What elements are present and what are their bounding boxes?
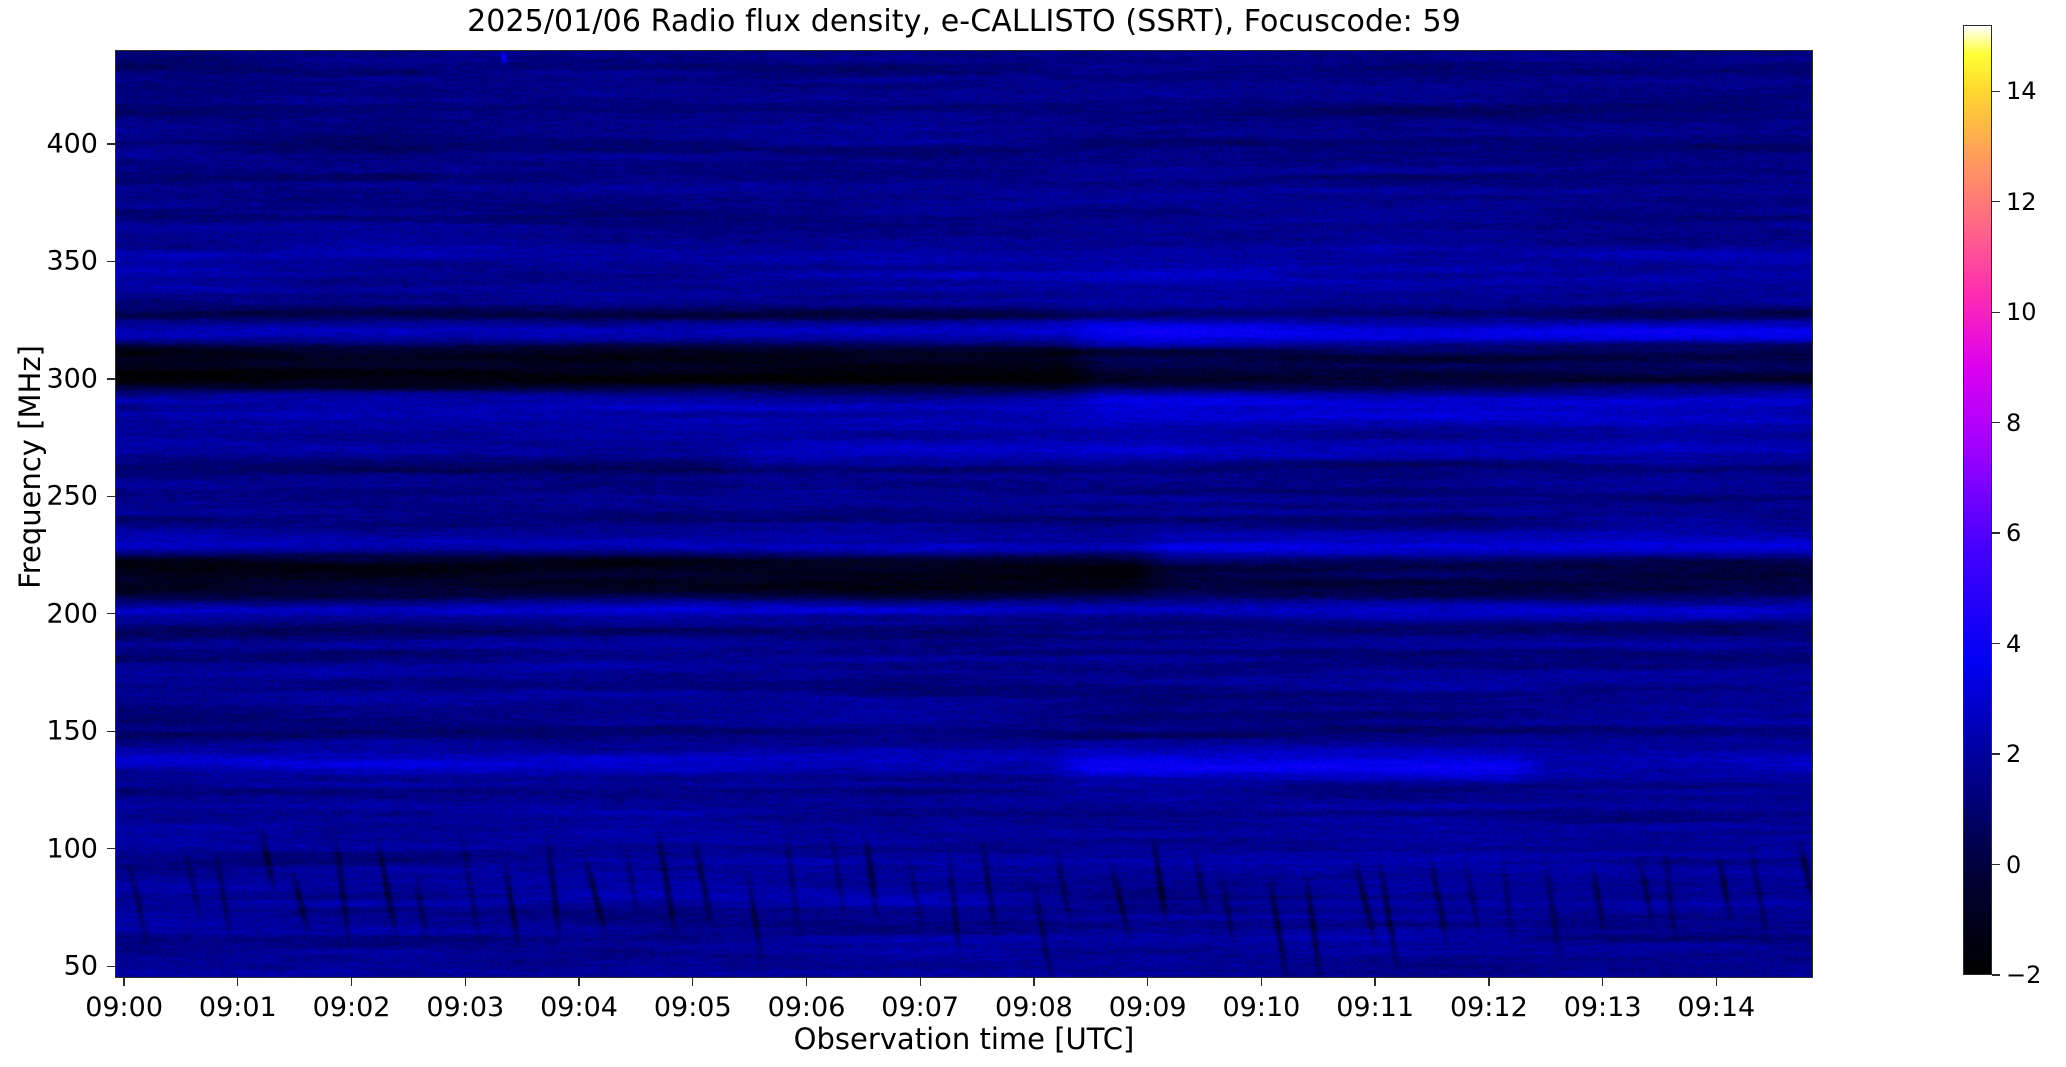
y-tick-label: 150 bbox=[20, 716, 98, 747]
colorbar[interactable] bbox=[1963, 25, 1992, 975]
x-tick-mark bbox=[465, 978, 466, 986]
x-tick-mark bbox=[1716, 978, 1717, 986]
x-tick-label: 09:02 bbox=[313, 992, 391, 1023]
colorbar-gradient bbox=[1964, 26, 1991, 974]
colorbar-tick-label: 2 bbox=[2006, 740, 2021, 768]
colorbar-tick-label: 10 bbox=[2006, 298, 2037, 326]
x-tick-mark bbox=[1602, 978, 1603, 986]
figure-root: 2025/01/06 Radio flux density, e-CALLIST… bbox=[0, 0, 2066, 1067]
y-tick-label: 400 bbox=[20, 128, 98, 159]
y-tick-label: 350 bbox=[20, 246, 98, 277]
x-tick-mark bbox=[692, 978, 693, 986]
x-tick-label: 09:03 bbox=[426, 992, 504, 1023]
x-tick-label: 09:05 bbox=[654, 992, 732, 1023]
colorbar-tick-mark bbox=[1992, 201, 2000, 202]
colorbar-tick-label: 12 bbox=[2006, 188, 2037, 216]
x-tick-mark bbox=[1488, 978, 1489, 986]
y-tick-mark bbox=[107, 848, 115, 849]
y-tick-label: 200 bbox=[20, 598, 98, 629]
y-tick-mark bbox=[107, 966, 115, 967]
x-tick-mark bbox=[123, 978, 124, 986]
colorbar-tick-mark bbox=[1992, 532, 2000, 533]
x-tick-label: 09:12 bbox=[1450, 992, 1528, 1023]
x-tick-mark bbox=[1374, 978, 1375, 986]
colorbar-tick-label: 4 bbox=[2006, 630, 2021, 658]
x-tick-label: 09:01 bbox=[199, 992, 277, 1023]
colorbar-tick-mark bbox=[1992, 753, 2000, 754]
colorbar-tick-mark bbox=[1992, 422, 2000, 423]
y-tick-mark bbox=[107, 613, 115, 614]
x-tick-label: 09:00 bbox=[85, 992, 163, 1023]
x-axis-label: Observation time [UTC] bbox=[115, 1022, 1813, 1056]
y-tick-label: 100 bbox=[20, 833, 98, 864]
x-tick-label: 09:14 bbox=[1677, 992, 1755, 1023]
x-tick-label: 09:10 bbox=[1222, 992, 1300, 1023]
x-tick-mark bbox=[1147, 978, 1148, 986]
x-tick-label: 09:13 bbox=[1564, 992, 1642, 1023]
colorbar-tick-label: 8 bbox=[2006, 409, 2021, 437]
x-tick-label: 09:08 bbox=[995, 992, 1073, 1023]
x-tick-mark bbox=[806, 978, 807, 986]
x-tick-mark bbox=[578, 978, 579, 986]
colorbar-tick-mark bbox=[1992, 91, 2000, 92]
y-tick-label: 50 bbox=[20, 951, 98, 982]
y-tick-mark bbox=[107, 496, 115, 497]
x-tick-mark bbox=[351, 978, 352, 986]
y-tick-mark bbox=[107, 261, 115, 262]
x-tick-label: 09:09 bbox=[1109, 992, 1187, 1023]
spectrogram-canvas[interactable] bbox=[116, 51, 1812, 977]
y-tick-label: 300 bbox=[20, 363, 98, 394]
colorbar-tick-mark bbox=[1992, 974, 2000, 975]
x-tick-label: 09:04 bbox=[540, 992, 618, 1023]
y-axis-label: Frequency [MHz] bbox=[13, 287, 47, 647]
colorbar-tick-mark bbox=[1992, 643, 2000, 644]
x-tick-mark bbox=[920, 978, 921, 986]
y-tick-label: 250 bbox=[20, 481, 98, 512]
colorbar-tick-label: −2 bbox=[2006, 961, 2041, 989]
colorbar-tick-mark bbox=[1992, 864, 2000, 865]
page-title: 2025/01/06 Radio flux density, e-CALLIST… bbox=[115, 4, 1813, 39]
colorbar-tick-label: 0 bbox=[2006, 851, 2021, 879]
spectrogram-plot[interactable] bbox=[115, 50, 1813, 978]
x-tick-label: 09:11 bbox=[1336, 992, 1414, 1023]
x-tick-mark bbox=[1033, 978, 1034, 986]
colorbar-tick-label: 6 bbox=[2006, 519, 2021, 547]
colorbar-tick-label: 14 bbox=[2006, 77, 2037, 105]
x-tick-mark bbox=[1261, 978, 1262, 986]
x-tick-mark bbox=[237, 978, 238, 986]
x-tick-label: 09:06 bbox=[768, 992, 846, 1023]
colorbar-tick-mark bbox=[1992, 312, 2000, 313]
y-tick-mark bbox=[107, 731, 115, 732]
x-tick-label: 09:07 bbox=[881, 992, 959, 1023]
y-tick-mark bbox=[107, 143, 115, 144]
y-tick-mark bbox=[107, 378, 115, 379]
